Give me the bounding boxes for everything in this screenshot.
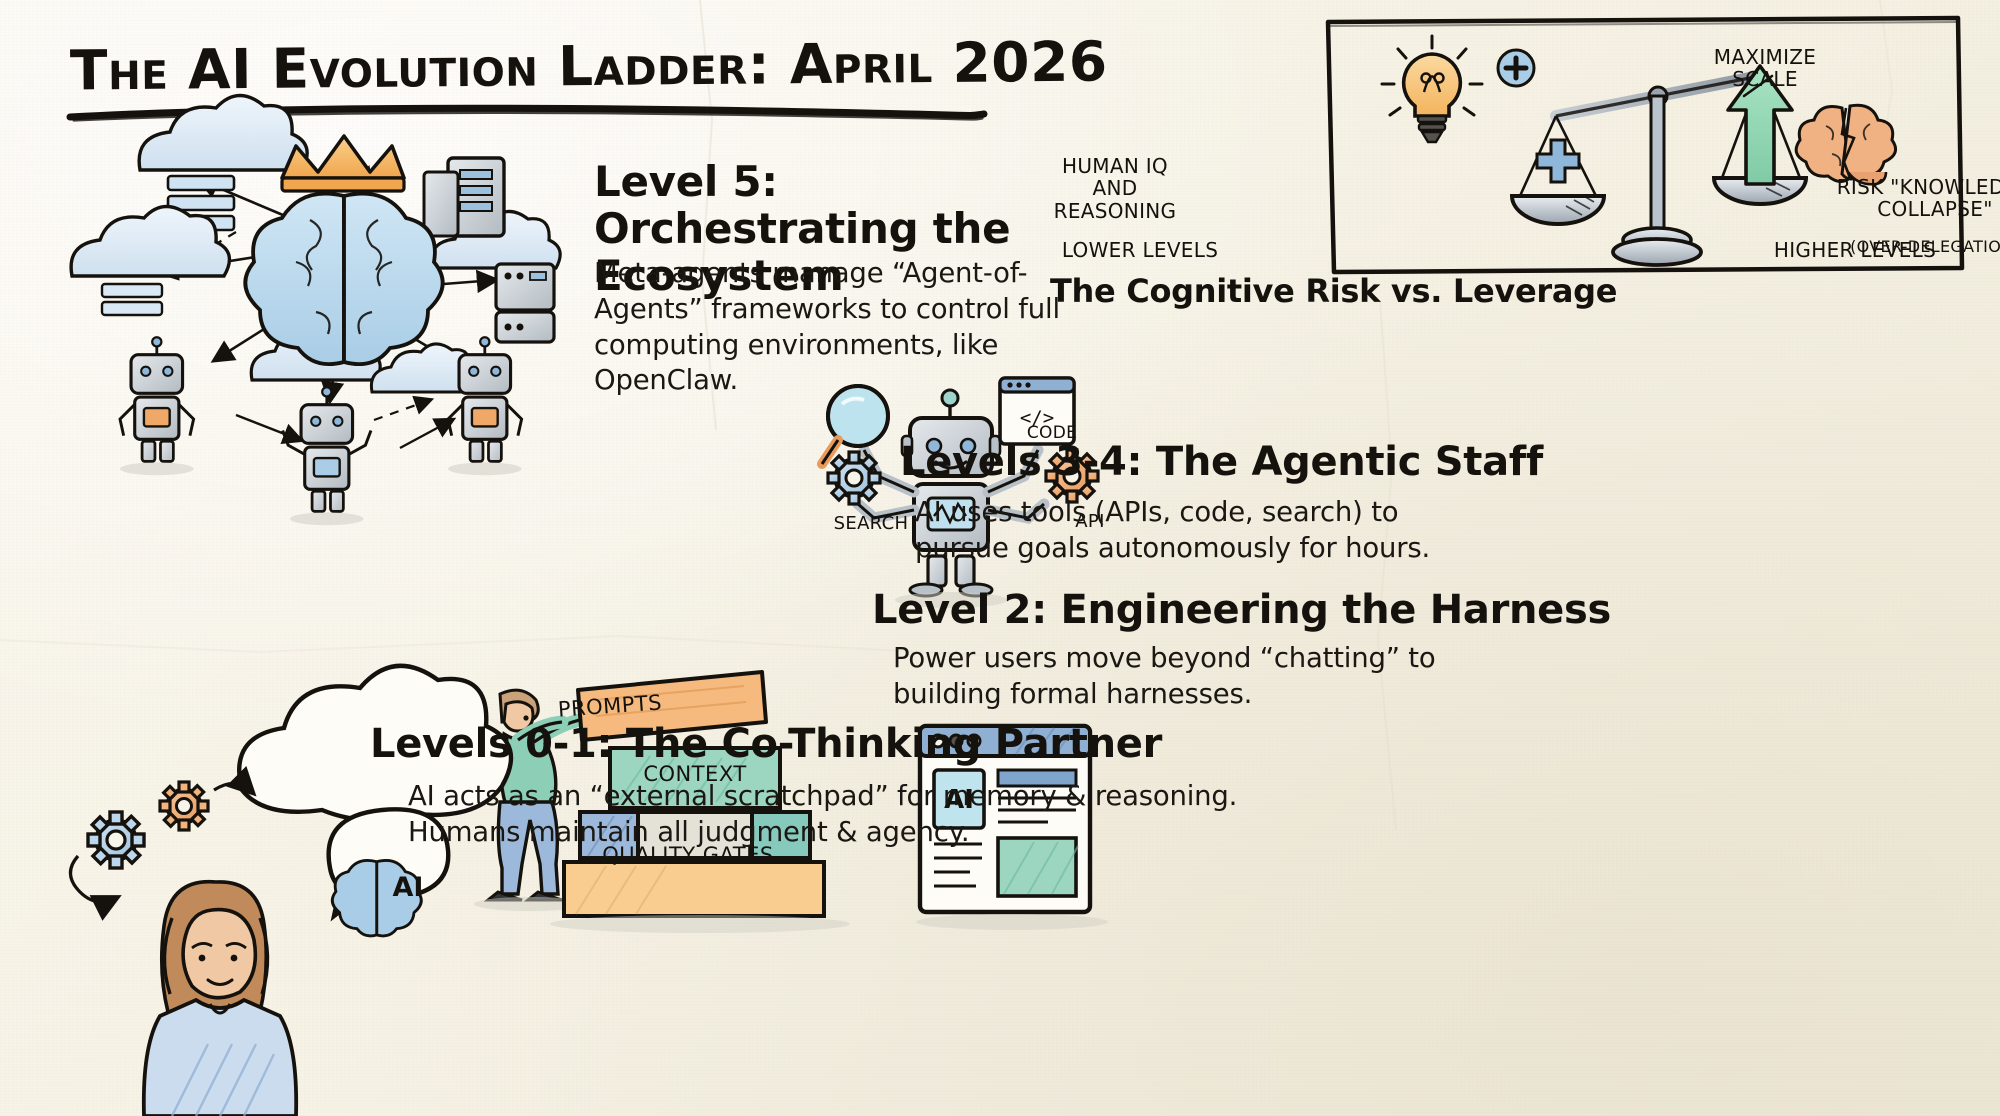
levels-0-1-heading: Levels 0-1: The Co-Thinking Partner — [370, 722, 1162, 767]
svg-text:AI: AI — [393, 872, 424, 903]
level-2-body: Power users move beyond “chatting” to bu… — [893, 641, 1473, 713]
level-2-heading: Level 2: Engineering the Harness — [872, 588, 1611, 633]
level-5-body: Meta-agents manage “Agent-of-Agents” fra… — [594, 256, 1064, 399]
levels-0-1-body: AI acts as an “external scratchpad” for … — [408, 779, 1268, 851]
levels-3-4-body: AI uses tools (APIs, code, search) to pu… — [915, 495, 1475, 567]
levels-3-4-heading: Levels 3-4: The Agentic Staff — [900, 440, 1543, 485]
